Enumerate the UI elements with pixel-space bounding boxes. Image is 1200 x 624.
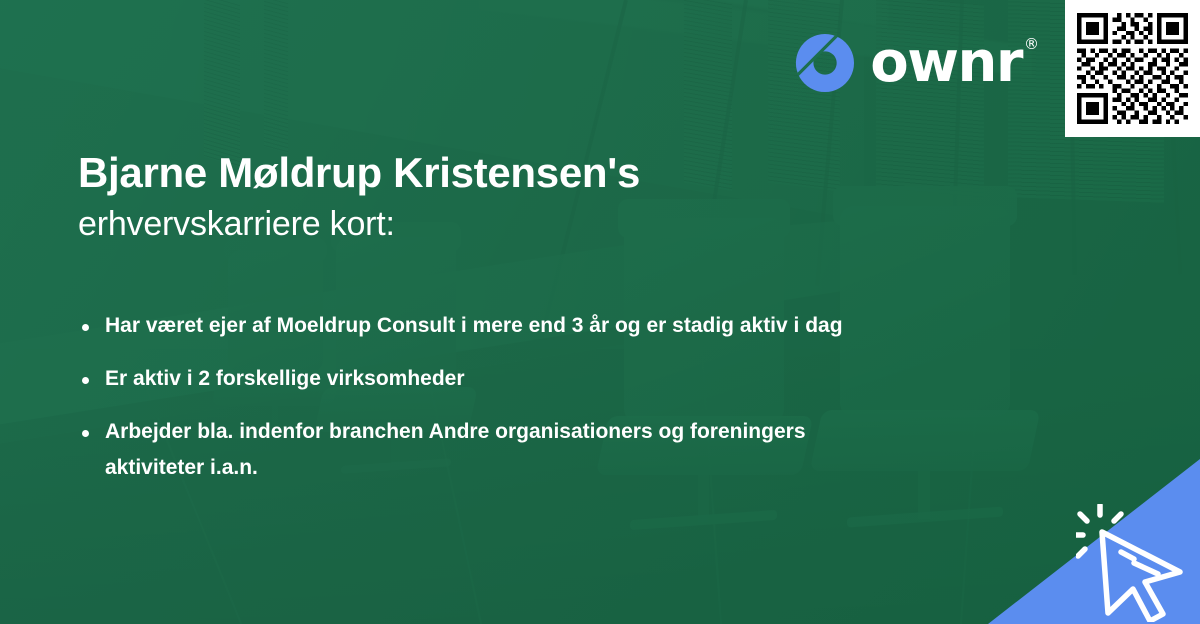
list-item: Arbejder bla. indenfor branchen Andre or… [78,414,868,488]
brand-lockup[interactable]: ownr ® [794,32,1022,94]
bullet-dot-icon [82,430,89,437]
bullet-dot-icon [82,324,89,331]
qr-code-icon [1077,13,1188,124]
page-title: Bjarne Møldrup Kristensen's erhvervskarr… [78,148,798,246]
list-item: Er aktiv i 2 forskellige virksomheder [78,361,868,398]
brand-wordmark-text: ownr [870,30,1022,95]
headline-secondary: erhvervskarriere kort: [78,202,798,246]
registered-trademark-icon: ® [1024,37,1039,52]
promo-card: ownr ® Bjarne Møldrup Kristensen's erhve… [0,0,1200,624]
bullet-dot-icon [82,377,89,384]
list-item-label: Arbejder bla. indenfor branchen Andre or… [105,420,806,480]
corner-accent [988,459,1200,624]
ownr-circle-slash-logo-icon [794,32,856,94]
qr-code[interactable] [1065,0,1200,137]
list-item-label: Har været ejer af Moeldrup Consult i mer… [105,314,843,337]
brand-wordmark: ownr ® [870,35,1022,91]
headline-primary: Bjarne Møldrup Kristensen's [78,148,798,198]
career-facts-list: Har været ejer af Moeldrup Consult i mer… [78,308,868,487]
list-item: Har været ejer af Moeldrup Consult i mer… [78,308,868,345]
list-item-label: Er aktiv i 2 forskellige virksomheder [105,367,465,390]
mouse-cursor-click-icon [1076,504,1194,622]
